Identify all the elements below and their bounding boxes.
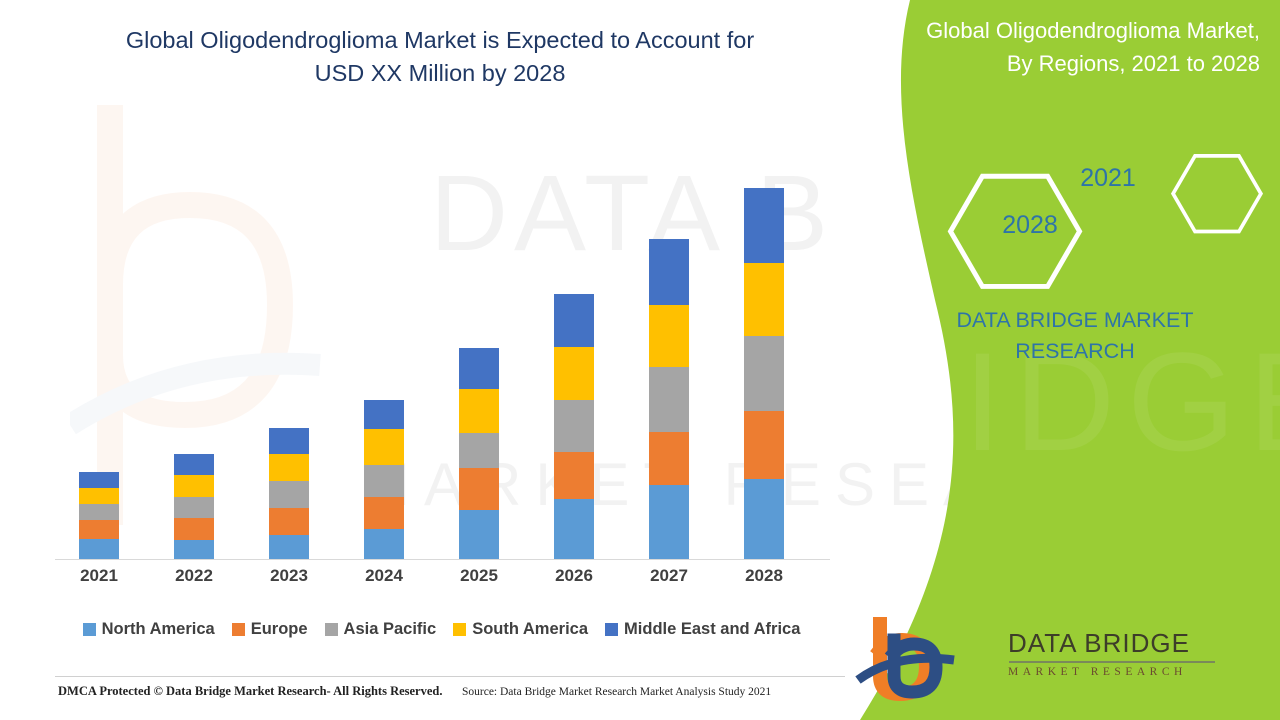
company-logo: DATA BRIDGE MARKET RESEARCH [850, 614, 1280, 704]
legend-label: North America [102, 620, 215, 639]
bar-segment [649, 305, 689, 367]
branding-title: Global Oligodendroglioma Market, By Regi… [860, 14, 1272, 80]
x-axis-line [55, 559, 830, 560]
bar-segment [459, 468, 499, 510]
bar-segment [744, 336, 784, 411]
x-axis-label: 2026 [534, 566, 614, 586]
bar-segment [364, 429, 404, 465]
legend-item[interactable]: Middle East and Africa [605, 620, 800, 639]
bar-segment [79, 539, 119, 559]
chart-panel: Global Oligodendroglioma Market is Expec… [0, 0, 900, 720]
legend-label: Asia Pacific [344, 620, 437, 639]
legend-swatch [325, 623, 338, 636]
legend-item[interactable]: South America [453, 620, 588, 639]
branding-title-line1: Global Oligodendroglioma Market, [926, 18, 1260, 43]
footer-divider [55, 676, 845, 677]
bar-segment [744, 188, 784, 263]
bar-segment [174, 475, 214, 497]
brand-name-line2: RESEARCH [1015, 339, 1134, 363]
bar-segment [649, 367, 689, 432]
legend-label: South America [472, 620, 588, 639]
bar-segment [459, 510, 499, 559]
source-note: Source: Data Bridge Market Research Mark… [462, 686, 771, 698]
bar-segment [269, 454, 309, 481]
bar-segment [554, 400, 594, 452]
legend-swatch [605, 623, 618, 636]
x-axis-label: 2021 [59, 566, 139, 586]
logo-mark-icon [850, 614, 1000, 704]
bar-segment [459, 348, 499, 389]
legend-swatch [453, 623, 466, 636]
x-axis-label: 2024 [344, 566, 424, 586]
bar-segment [364, 465, 404, 497]
bar-segment [364, 529, 404, 559]
bar-segment [459, 389, 499, 433]
bar-segment [744, 479, 784, 559]
bar-group [174, 454, 214, 559]
x-axis-label: 2025 [439, 566, 519, 586]
bar-segment [79, 520, 119, 539]
logo-main-text: DATA BRIDGE [1008, 628, 1215, 659]
bar-segment [79, 504, 119, 520]
chart-title-line2: USD XX Million by 2028 [315, 60, 566, 86]
x-axis-label: 2028 [724, 566, 804, 586]
bar-segment [269, 428, 309, 454]
hexagon-2021-label: 2021 [1080, 164, 1136, 192]
legend-item[interactable]: Asia Pacific [325, 620, 437, 639]
bar-segment [554, 499, 594, 559]
hexagon-2021 [1173, 156, 1261, 232]
hexagon-badges-svg: 2028 2021 [840, 140, 1280, 290]
x-axis-label: 2023 [249, 566, 329, 586]
logo-wordmark: DATA BRIDGE MARKET RESEARCH [1008, 628, 1215, 678]
bar-group [79, 472, 119, 559]
hexagon-badges: 2028 2021 [840, 140, 1280, 290]
bar-segment [79, 488, 119, 504]
chart-title-line1: Global Oligodendroglioma Market is Expec… [126, 27, 754, 53]
logo-sub-text: MARKET RESEARCH [1008, 666, 1215, 678]
copyright-notice: DMCA Protected © Data Bridge Market Rese… [58, 684, 443, 699]
bar-segment [554, 452, 594, 499]
bar-segment [364, 400, 404, 429]
bar-segment [649, 239, 689, 305]
bar-segment [554, 347, 594, 400]
brand-name: DATA BRIDGE MARKET RESEARCH [840, 305, 1280, 367]
legend-item[interactable]: Europe [232, 620, 308, 639]
bar-segment [459, 433, 499, 468]
logo-divider [1009, 661, 1215, 663]
bar-group [744, 188, 784, 559]
bar-segment [269, 535, 309, 559]
legend-label: Europe [251, 620, 308, 639]
legend-swatch [83, 623, 96, 636]
legend-label: Middle East and Africa [624, 620, 800, 639]
infographic-root: DATA B MARKET RESEARCH Global Oligodendr… [0, 0, 1280, 720]
bar-segment [174, 540, 214, 559]
x-axis-labels: 20212022202320242025202620272028 [55, 566, 830, 596]
bar-segment [269, 481, 309, 508]
bar-segment [174, 518, 214, 540]
legend-item[interactable]: North America [83, 620, 215, 639]
bar-group [269, 428, 309, 559]
bar-segment [269, 508, 309, 535]
bar-segment [649, 485, 689, 559]
x-axis-label: 2022 [154, 566, 234, 586]
brand-name-line1: DATA BRIDGE MARKET [957, 308, 1194, 332]
bar-segment [744, 411, 784, 479]
bar-segment [174, 497, 214, 518]
legend-swatch [232, 623, 245, 636]
bar-group [459, 348, 499, 559]
bar-group [364, 400, 404, 559]
branding-title-line2: By Regions, 2021 to 2028 [1007, 51, 1260, 76]
bar-segment [174, 454, 214, 475]
bar-segment [744, 263, 784, 336]
hexagon-2028-label: 2028 [1002, 211, 1058, 239]
chart-title: Global Oligodendroglioma Market is Expec… [60, 24, 820, 90]
bar-segment [364, 497, 404, 529]
chart-legend: North AmericaEuropeAsia PacificSouth Ame… [55, 615, 845, 643]
branding-panel: RIDGE Global Oligodendroglioma Market, B… [840, 0, 1280, 720]
stacked-bar-chart-plot [55, 100, 830, 560]
bar-group [554, 294, 594, 559]
bar-segment [79, 472, 119, 488]
bar-group [649, 239, 689, 559]
bar-segment [554, 294, 594, 347]
x-axis-label: 2027 [629, 566, 709, 586]
bar-segment [649, 432, 689, 485]
